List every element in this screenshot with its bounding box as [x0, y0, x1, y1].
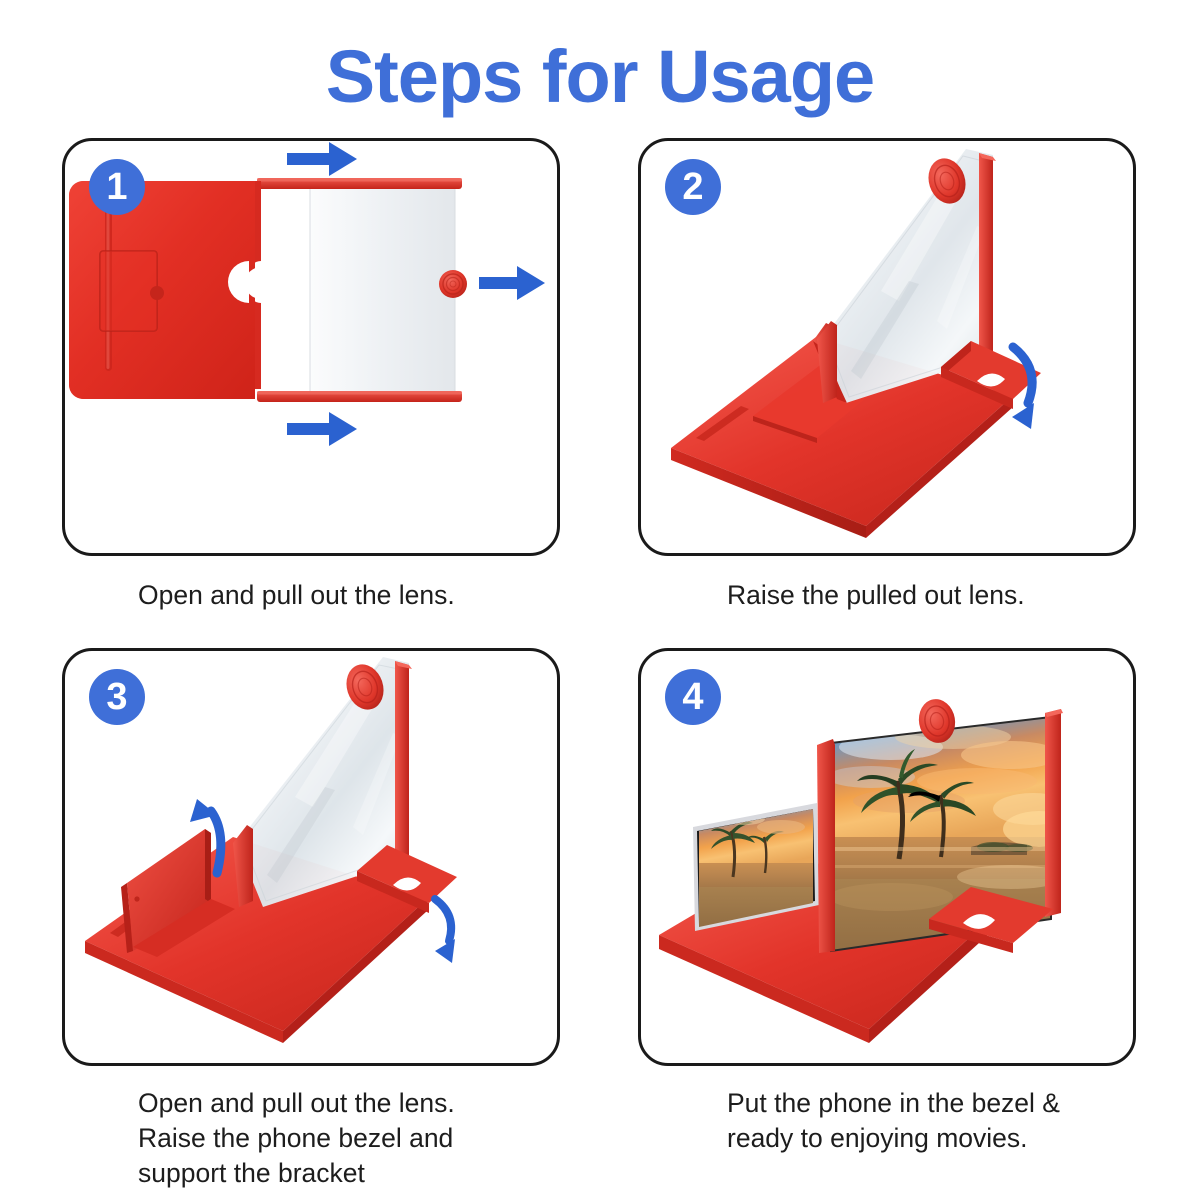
step-card-1: 1 [62, 138, 560, 556]
step-card-frame: 4 [638, 648, 1136, 1066]
direction-arrow-lip-down [435, 899, 451, 941]
step-card-frame: 1 [62, 138, 560, 556]
step-caption-4: Put the phone in the bezel & ready to en… [727, 1086, 1147, 1156]
step-caption-1: Open and pull out the lens. [138, 578, 558, 613]
direction-arrow-middle [479, 266, 545, 300]
step-number-badge: 2 [665, 159, 721, 215]
step-card-3: 3 [62, 648, 560, 1066]
step-card-4: 4 [638, 648, 1136, 1066]
step-number-badge: 1 [89, 159, 145, 215]
step-card-frame: 2 [638, 138, 1136, 556]
step-card-frame: 3 [62, 648, 560, 1066]
infographic-page: Steps for Usage [0, 0, 1200, 1200]
direction-arrow-bottom [287, 412, 357, 446]
lens-knob [439, 270, 467, 298]
step-caption-2: Raise the pulled out lens. [727, 578, 1147, 613]
step-number-badge: 3 [89, 669, 145, 725]
direction-arrow-top [287, 142, 357, 176]
step-card-2: 2 [638, 138, 1136, 556]
step-caption-3: Open and pull out the lens. Raise the ph… [138, 1086, 558, 1192]
step-number-badge: 4 [665, 669, 721, 725]
